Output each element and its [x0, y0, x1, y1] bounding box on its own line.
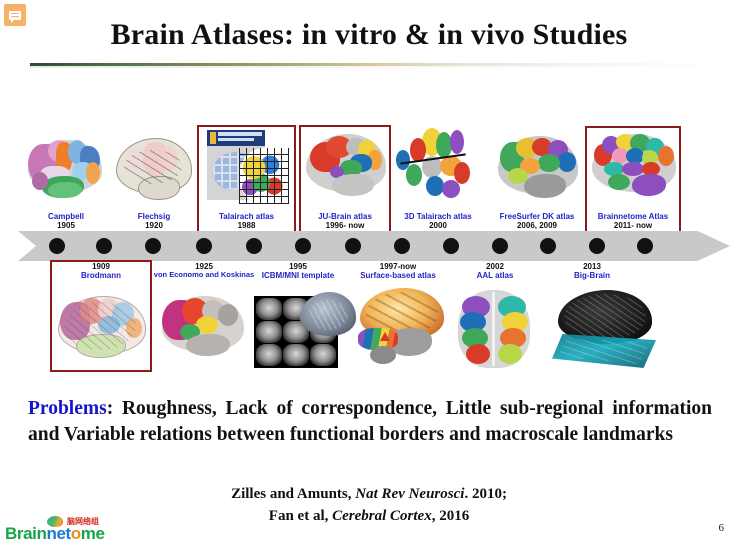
logo-part-3: o: [71, 524, 81, 543]
timeline-label-ju-brain-atlas: JU-Brain atlas 1996- now: [299, 212, 391, 230]
timeline-label-von-economo: 1925 von Economo and Koskinas: [152, 262, 256, 280]
brain-image-flechsig: [116, 136, 192, 208]
brain-image-big-brain: [552, 290, 656, 372]
timeline-dot: [96, 238, 112, 254]
timeline-label-brainnetome-atlas: Brainnetome Atlas 2011- now: [585, 212, 681, 230]
label-year: 1988: [197, 221, 296, 230]
timeline-dot: [49, 238, 65, 254]
label-name: Flechsig: [110, 212, 198, 221]
label-year: 1920: [110, 221, 198, 230]
timeline-label-flechsig: Flechsig 1920: [110, 212, 198, 230]
timeline-label-icbm-mni: 1995 ICBM/MNI template: [252, 262, 344, 280]
timeline-dot: [196, 238, 212, 254]
brain-image-von-economo: [162, 292, 244, 366]
timeline-label-surface-based-atlas: 1997-now Surface-based atlas: [347, 262, 449, 280]
label-year: 2011- now: [585, 221, 681, 230]
label-name: AAL atlas: [452, 271, 538, 280]
citation-rest: . 2010;: [464, 486, 507, 502]
timeline-label-big-brain: 2013 Big-Brain: [548, 262, 636, 280]
timeline-dot: [637, 238, 653, 254]
logo-part-4: me: [81, 524, 105, 543]
label-name: Surface-based atlas: [347, 271, 449, 280]
citation-journal: Nat Rev Neurosci: [355, 486, 464, 502]
label-year: 2006, 2009: [487, 221, 587, 230]
label-year: 1995: [252, 262, 344, 271]
citation-line-1: Zilles and Amunts, Nat Rev Neurosci. 201…: [0, 484, 738, 506]
brain-image-campbell: [26, 136, 104, 208]
timeline-label-talairach-atlas: Talairach atlas 1988: [197, 212, 296, 230]
brainnetome-logo: 脑网络组 Brainnetome: [3, 516, 123, 544]
timeline-dot: [443, 238, 459, 254]
label-year: 1905: [20, 221, 112, 230]
label-name: JU-Brain atlas: [299, 212, 391, 221]
timeline-label-3d-talairach-atlas: 3D Talairach atlas 2000: [390, 212, 486, 230]
timeline-dot: [295, 238, 311, 254]
label-year: 1997-now: [347, 262, 449, 271]
brain-image-aal-atlas: [458, 290, 530, 370]
timeline-dot: [492, 238, 508, 254]
citation-rest: , 2016: [432, 508, 470, 524]
highlight-box-brodmann: [50, 260, 152, 372]
problems-separator: :: [107, 398, 122, 419]
citation-authors: Zilles and Amunts,: [231, 486, 355, 502]
label-year: 2013: [548, 262, 636, 271]
label-name: ICBM/MNI template: [252, 271, 344, 280]
brain-image-icbm-3d-overlay: [300, 292, 356, 338]
timeline-dot: [540, 238, 556, 254]
logo-wordmark: Brainnetome: [5, 524, 105, 544]
timeline-dot: [589, 238, 605, 254]
citation-authors: Fan et al,: [269, 508, 332, 524]
problems-keyword: Problems: [28, 398, 107, 419]
label-year: 2000: [390, 221, 486, 230]
label-name: von Economo and Koskinas: [152, 271, 256, 280]
citation-journal: Cerebral Cortex: [332, 508, 432, 524]
label-name: Brainnetome Atlas: [585, 212, 681, 221]
timeline-arrow: [18, 231, 730, 261]
page-number: 6: [719, 522, 725, 534]
slide-canvas: Brain Atlases: in vitro & in vivo Studie…: [0, 0, 738, 546]
label-name: 3D Talairach atlas: [390, 212, 486, 221]
timeline-dot: [145, 238, 161, 254]
label-name: Campbell: [20, 212, 112, 221]
timeline-dot: [345, 238, 361, 254]
label-name: FreeSurfer DK atlas: [487, 212, 587, 221]
logo-part-2: net: [46, 524, 70, 543]
timeline-label-aal-atlas: 2002 AAL atlas: [452, 262, 538, 280]
timeline-dot: [394, 238, 410, 254]
problems-text: Roughness, Lack of correspondence, Littl…: [28, 398, 712, 445]
timeline-label-campbell: Campbell 1905: [20, 212, 112, 230]
label-name: Big-Brain: [548, 271, 636, 280]
logo-part-1: Brain: [5, 524, 46, 543]
brain-image-surface-based-atlas: [354, 288, 450, 372]
title-divider: [30, 63, 720, 66]
label-name: Talairach atlas: [197, 212, 296, 221]
brain-image-3d-talairach: [392, 128, 476, 210]
brain-image-freesurfer-dk: [498, 134, 578, 210]
timeline-label-freesurfer-dk-atlas: FreeSurfer DK atlas 2006, 2009: [487, 212, 587, 230]
timeline-dot: [246, 238, 262, 254]
label-year: 1996- now: [299, 221, 391, 230]
label-year: 2002: [452, 262, 538, 271]
page-title: Brain Atlases: in vitro & in vivo Studie…: [0, 18, 738, 52]
problems-paragraph: Problems: Roughness, Lack of corresponde…: [28, 396, 712, 447]
